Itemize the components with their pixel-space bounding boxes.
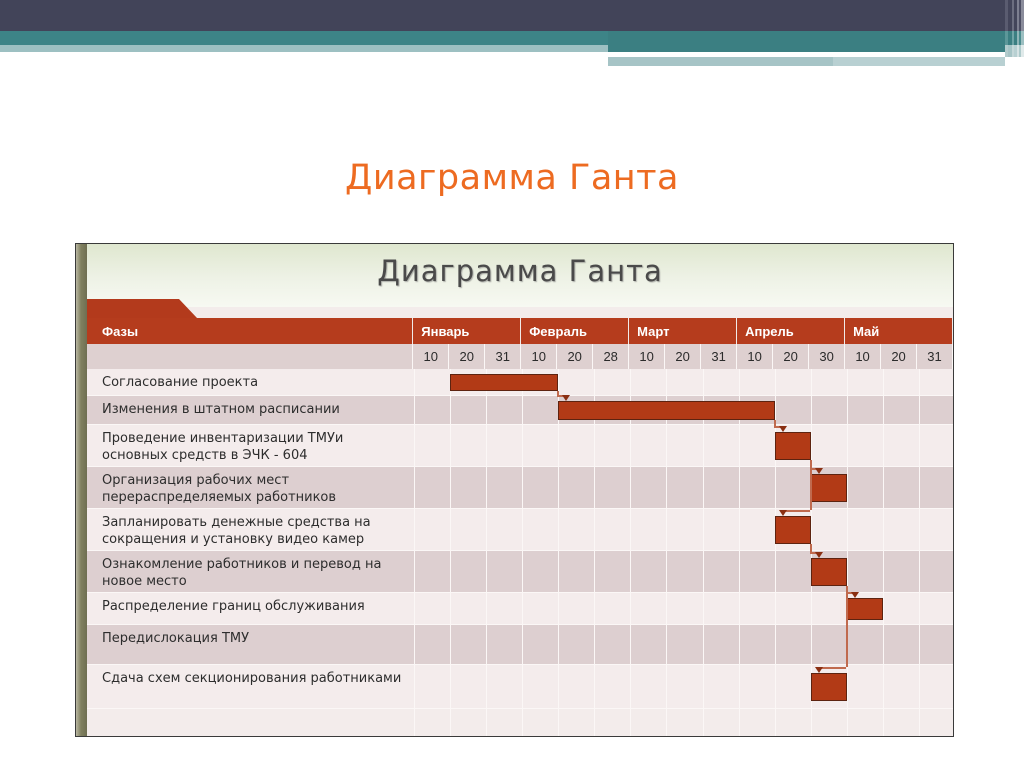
banner-band-light-left [0, 45, 608, 52]
dependency-arrowhead-5 [851, 592, 859, 598]
column-gridline-2 [486, 369, 487, 736]
gantt-grid-body: Согласование проектаИзменения в штатном … [87, 369, 953, 736]
column-gridline-1 [450, 369, 451, 736]
banner-band-dark [0, 0, 1005, 31]
month-header-3: Апрель [737, 318, 845, 344]
column-gridline-4 [558, 369, 559, 736]
day-header-12: 10 [845, 344, 881, 369]
banner-band-teal-left [0, 31, 608, 45]
column-gridline-5 [594, 369, 595, 736]
day-header-9: 10 [737, 344, 773, 369]
day-header-13: 20 [881, 344, 917, 369]
dependency-arrowhead-2 [815, 468, 823, 474]
card-left-spine [76, 244, 87, 736]
task-label: Распределение границ обслуживания [87, 593, 414, 625]
gantt-bar[interactable] [811, 558, 847, 586]
dependency-link-v-0 [557, 391, 559, 395]
month-header-row: Фазы ЯнварьФевральМартАпрельМай [87, 318, 953, 344]
task-label: Согласование проекта [87, 369, 414, 396]
gantt-row[interactable]: Изменения в штатном расписании [87, 396, 953, 425]
day-header-6: 10 [629, 344, 665, 369]
column-gridline-7 [666, 369, 667, 736]
dependency-link-h-6 [819, 667, 846, 669]
task-label: Передислокация ТМУ [87, 625, 414, 665]
month-header-1: Февраль [521, 318, 629, 344]
day-header-0: 10 [413, 344, 449, 369]
banner-band-teal-right [608, 45, 1005, 52]
task-label: Ознакомление работников и перевод на нов… [87, 551, 414, 593]
column-gridline-0 [414, 369, 415, 736]
day-header-2: 31 [485, 344, 521, 369]
dependency-arrowhead-3 [779, 510, 787, 516]
column-gridline-8 [703, 369, 704, 736]
day-header-5: 28 [593, 344, 629, 369]
dependency-arrowhead-1 [779, 426, 787, 432]
day-header-3: 10 [521, 344, 557, 369]
dependency-arrowhead-6 [815, 667, 823, 673]
day-row-spacer [87, 344, 413, 369]
day-header-11: 30 [809, 344, 845, 369]
dependency-arrowhead-4 [815, 552, 823, 558]
dependency-link-h-3 [783, 510, 810, 512]
dependency-link-v-6 [846, 586, 848, 667]
slide-banner [0, 0, 1024, 72]
gantt-bar[interactable] [558, 401, 774, 420]
gantt-bar[interactable] [450, 374, 558, 391]
day-header-10: 20 [773, 344, 809, 369]
gantt-row[interactable]: Распределение границ обслуживания [87, 593, 953, 625]
phases-column-header: Фазы [87, 318, 413, 344]
column-gridline-13 [883, 369, 884, 736]
task-label: Сдача схем секционирования работниками [87, 665, 414, 709]
row-divider [87, 708, 953, 709]
banner-band-light-right [833, 57, 1005, 66]
dependency-arrowhead-0 [562, 395, 570, 401]
column-gridline-3 [522, 369, 523, 736]
gantt-bar[interactable] [811, 673, 847, 701]
chart-title: Диаграмма Ганта [87, 254, 953, 288]
banner-band-light-mid [608, 57, 833, 66]
column-gridline-14 [919, 369, 920, 736]
page-title: Диаграмма Ганта [0, 158, 1024, 198]
gantt-row[interactable]: Передислокация ТМУ [87, 625, 953, 665]
task-label: Проведение инвентаризации ТМУи основных … [87, 425, 414, 467]
column-gridline-12 [847, 369, 848, 736]
day-header-14: 31 [917, 344, 953, 369]
gantt-bar[interactable] [775, 516, 811, 544]
gantt-row[interactable]: Запланировать денежные средства на сокра… [87, 509, 953, 551]
card-header-band: Диаграмма Ганта [87, 244, 953, 307]
task-label: Запланировать денежные средства на сокра… [87, 509, 414, 551]
day-header-8: 31 [701, 344, 737, 369]
gantt-chart-card: Диаграмма Ганта Фазы ЯнварьФевральМартАп… [75, 243, 954, 737]
gantt-bar[interactable] [775, 432, 811, 460]
gantt-bar[interactable] [811, 474, 847, 502]
task-label: Изменения в штатном расписании [87, 396, 414, 425]
header-decorative-tab [87, 299, 197, 318]
month-header-0: Январь [413, 318, 521, 344]
column-gridline-9 [739, 369, 740, 736]
dependency-link-v-1 [774, 420, 776, 426]
task-label: Организация рабочих мест перераспределяе… [87, 467, 414, 509]
day-header-7: 20 [665, 344, 701, 369]
day-header-row: 102031102028102031102030102031 [87, 344, 953, 369]
month-header-2: Март [629, 318, 737, 344]
gantt-row[interactable]: Проведение инвентаризации ТМУи основных … [87, 425, 953, 467]
day-header-1: 20 [449, 344, 485, 369]
column-gridline-6 [630, 369, 631, 736]
day-header-4: 20 [557, 344, 593, 369]
gantt-bar[interactable] [847, 598, 883, 620]
dependency-link-v-4 [810, 544, 812, 552]
dependency-link-v-3 [810, 460, 812, 510]
month-header-4: Май [845, 318, 953, 344]
